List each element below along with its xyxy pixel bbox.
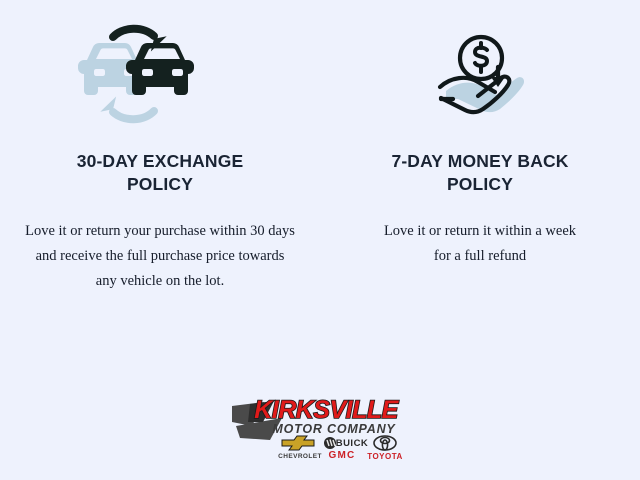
policy-card-exchange: 30-DAY EXCHANGE POLICY Love it or return… (0, 0, 320, 380)
car-exchange-icon (0, 0, 292, 150)
policy-columns: 30-DAY EXCHANGE POLICY Love it or return… (0, 0, 640, 380)
svg-text:CHEVROLET: CHEVROLET (278, 453, 322, 460)
svg-text:BUICK: BUICK (336, 438, 369, 449)
logo-primary-text: KIRKSVILLE (254, 396, 399, 424)
policy-card-money-back: 7-DAY MONEY BACK POLICY Love it or retur… (320, 0, 640, 380)
svg-text:TOYOTA: TOYOTA (367, 452, 403, 461)
svg-text:GMC: GMC (329, 450, 356, 461)
chevrolet-bowtie-icon: CHEVROLET (278, 436, 322, 460)
promo-banner: 30-DAY EXCHANGE POLICY Love it or return… (0, 0, 640, 480)
policy-description: Love it or return it within a week for a… (348, 219, 613, 269)
hand-holding-money-icon (320, 0, 640, 150)
buick-tri-shield-icon: BUICK GMC (324, 437, 368, 461)
policy-title: 30-DAY EXCHANGE POLICY (26, 150, 294, 196)
toyota-ovals-icon: TOYOTA (367, 436, 403, 461)
policy-title: 7-DAY MONEY BACK POLICY (341, 150, 619, 196)
logo-secondary-text: MOTOR COMPANY (272, 422, 396, 436)
dealer-logo[interactable]: KIRKSVILLE MOTOR COMPANY CHEVROLET BUICK… (0, 392, 640, 470)
policy-description: Love it or return your purchase within 3… (10, 219, 310, 294)
